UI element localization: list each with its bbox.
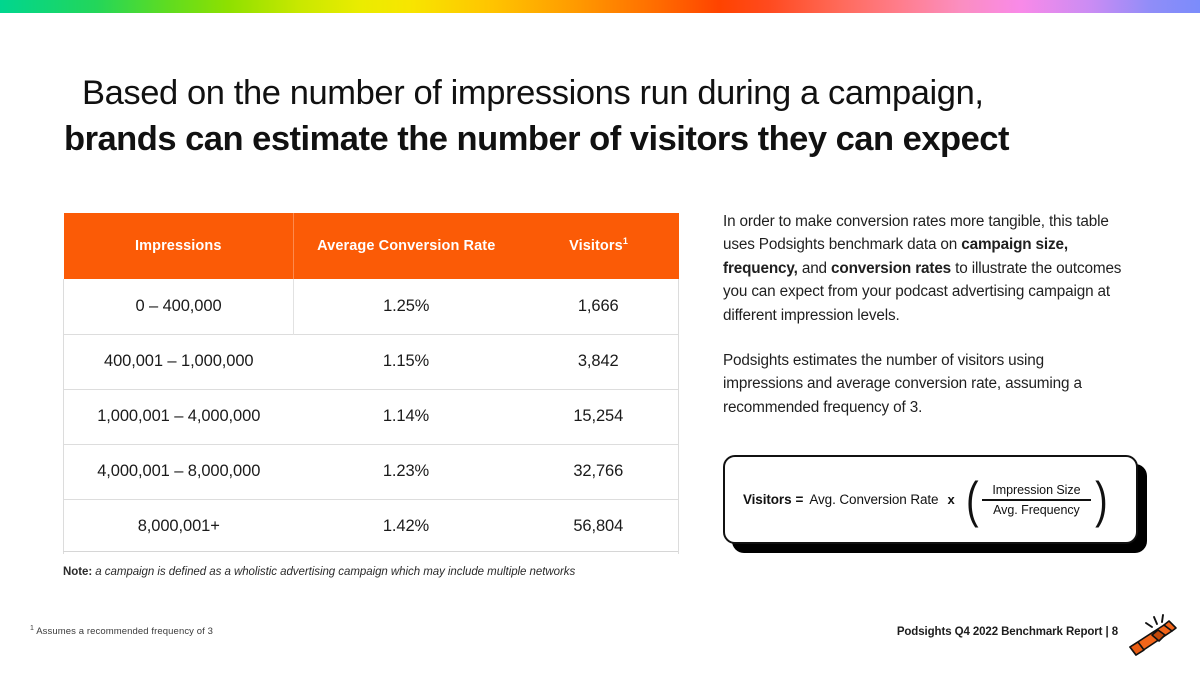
podsights-megaphone-logo — [1124, 613, 1182, 665]
table-bottom-divider — [63, 551, 678, 552]
formula-denominator: Avg. Frequency — [983, 501, 1090, 519]
column-header-visitors: Visitors1 — [519, 213, 679, 279]
cell-impressions: 400,001 – 1,000,000 — [64, 334, 294, 389]
formula-avg-conversion-rate: Avg. Conversion Rate — [809, 492, 938, 507]
para1-segment-2: and — [798, 260, 831, 277]
table-note-text: a campaign is defined as a wholistic adv… — [92, 566, 575, 578]
formula-card-zone: Visitors = Avg. Conversion Rate x ( Impr… — [723, 455, 1147, 553]
formula-paren-close: ) — [1095, 482, 1107, 518]
body-paragraph-1: In order to make conversion rates more t… — [723, 210, 1128, 327]
para1-bold-2: conversion rates — [831, 260, 951, 277]
table-row: 1,000,001 – 4,000,000 1.14% 15,254 — [64, 389, 679, 444]
cell-conversion-rate: 1.25% — [294, 279, 519, 334]
footer-report-label: Podsights Q4 2022 Benchmark Report | 8 — [897, 626, 1118, 638]
formula-equals-sign: = — [795, 492, 803, 507]
table-note-label: Note: — [63, 566, 92, 578]
page-title: Based on the number of impressions run d… — [82, 70, 1162, 162]
formula-numerator: Impression Size — [982, 481, 1090, 499]
cell-conversion-rate: 1.23% — [294, 444, 519, 499]
cell-visitors: 56,804 — [519, 499, 679, 554]
cell-impressions: 8,000,001+ — [64, 499, 294, 554]
cell-conversion-rate: 1.15% — [294, 334, 519, 389]
column-header-impressions: Impressions — [64, 213, 294, 279]
slide-root: Based on the number of impressions run d… — [0, 0, 1200, 675]
cell-visitors: 1,666 — [519, 279, 679, 334]
column-header-conversion-rate: Average Conversion Rate — [294, 213, 519, 279]
cell-visitors: 15,254 — [519, 389, 679, 444]
formula-paren-open: ( — [966, 482, 978, 518]
table-row: 400,001 – 1,000,000 1.15% 3,842 — [64, 334, 679, 389]
headline-line-2: brands can estimate the number of visito… — [64, 116, 1162, 162]
cell-visitors: 3,842 — [519, 334, 679, 389]
footnote-text: Assumes a recommended frequency of 3 — [34, 626, 213, 637]
benchmark-table: Impressions Average Conversion Rate Visi… — [63, 213, 679, 554]
table-body: 0 – 400,000 1.25% 1,666 400,001 – 1,000,… — [64, 279, 679, 554]
formula-fraction: Impression Size Avg. Frequency — [982, 481, 1090, 519]
rainbow-gradient-bar — [0, 0, 1200, 13]
table-head: Impressions Average Conversion Rate Visi… — [64, 213, 679, 279]
cell-visitors: 32,766 — [519, 444, 679, 499]
cell-conversion-rate: 1.14% — [294, 389, 519, 444]
cell-conversion-rate: 1.42% — [294, 499, 519, 554]
formula-visitors-label: Visitors — [743, 492, 791, 507]
visitors-footnote-marker: 1 — [623, 236, 628, 246]
cell-impressions: 1,000,001 – 4,000,000 — [64, 389, 294, 444]
table-note: Note: a campaign is defined as a wholist… — [63, 566, 575, 578]
table-row: 4,000,001 – 8,000,000 1.23% 32,766 — [64, 444, 679, 499]
table-row: 8,000,001+ 1.42% 56,804 — [64, 499, 679, 554]
table-header-row: Impressions Average Conversion Rate Visi… — [64, 213, 679, 279]
cell-impressions: 0 – 400,000 — [64, 279, 294, 334]
headline-line-1: Based on the number of impressions run d… — [82, 70, 1162, 116]
column-header-visitors-label: Visitors — [569, 238, 623, 254]
table-row: 0 – 400,000 1.25% 1,666 — [64, 279, 679, 334]
cell-impressions: 4,000,001 – 8,000,000 — [64, 444, 294, 499]
formula-multiply-sign: x — [947, 492, 954, 507]
benchmark-table-wrapper: Impressions Average Conversion Rate Visi… — [63, 213, 678, 554]
formula-card: Visitors = Avg. Conversion Rate x ( Impr… — [723, 455, 1138, 544]
slide-footnote: 1 Assumes a recommended frequency of 3 — [30, 626, 213, 637]
body-paragraph-2: Podsights estimates the number of visito… — [723, 349, 1128, 419]
body-copy: In order to make conversion rates more t… — [723, 210, 1128, 419]
